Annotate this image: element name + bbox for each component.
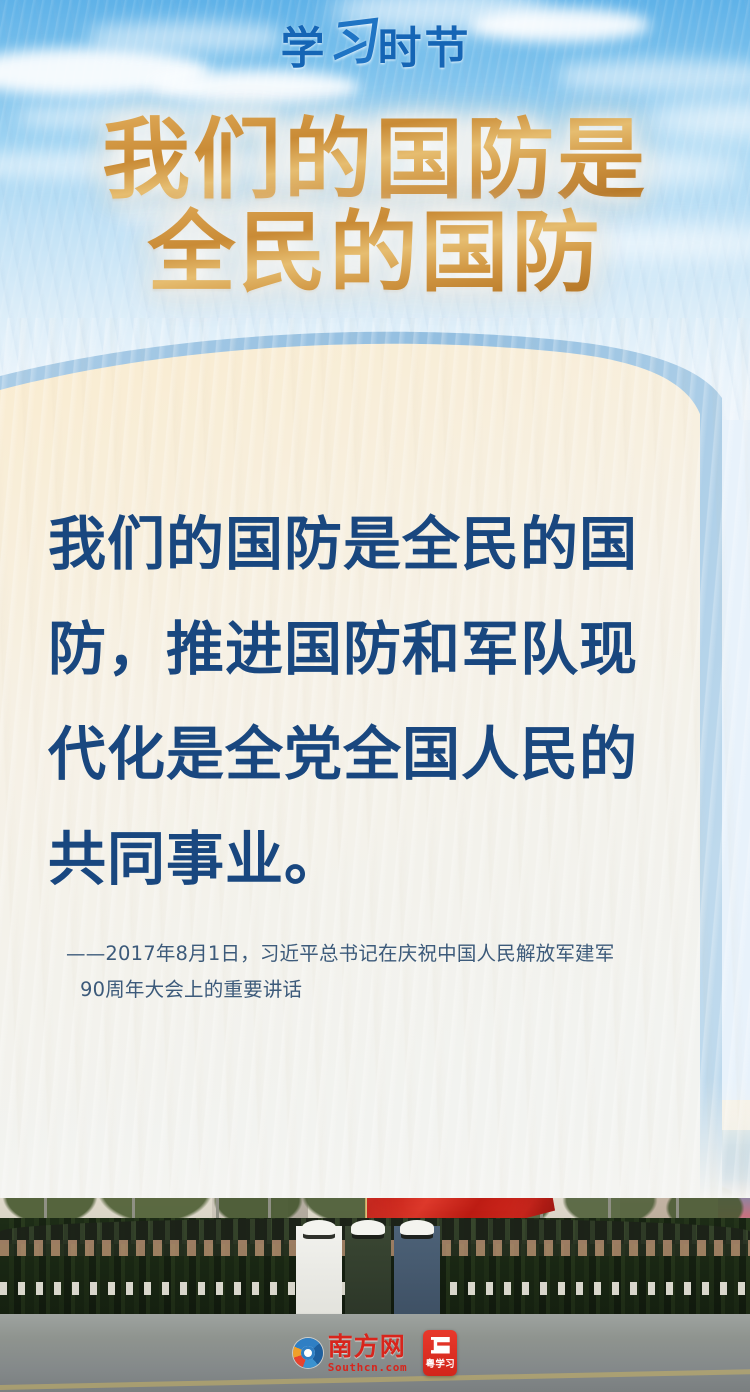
attribution-line: ——2017年8月1日，习近平总书记在庆祝中国人民解放军建军 bbox=[66, 936, 696, 972]
quote-attribution: ——2017年8月1日，习近平总书记在庆祝中国人民解放军建军 90周年大会上的重… bbox=[66, 936, 696, 1008]
quote-line: 我们的国防是全民的国 bbox=[48, 492, 708, 597]
yuexuexi-logo[interactable]: 粤学习 bbox=[423, 1330, 457, 1376]
brand-char-jie: 节 bbox=[425, 27, 470, 71]
cloud bbox=[150, 70, 360, 104]
poster-root: 学 习 时 节 我们的国防是 全民的国防 bbox=[0, 0, 750, 1392]
brand-logo[interactable]: 学 习 时 节 bbox=[0, 24, 750, 74]
southcn-wordmark: 南方网 Southcn.com bbox=[328, 1334, 407, 1373]
quote-text: 我们的国防是全民的国 防，推进国防和军队现 代化是全党全国人民的 共同事业。 bbox=[48, 492, 708, 912]
yuexuexi-mark-icon bbox=[431, 1337, 450, 1354]
southcn-globe-icon bbox=[293, 1338, 323, 1368]
yuexuexi-label: 粤学习 bbox=[426, 1356, 455, 1370]
headline-line-2: 全民的国防 bbox=[0, 203, 750, 302]
officer-cap bbox=[302, 1220, 336, 1235]
quote-line: 代化是全党全国人民的 bbox=[48, 702, 708, 807]
southcn-label-cn: 南方网 bbox=[328, 1334, 407, 1359]
brand-char-shi: 时 bbox=[378, 27, 423, 71]
officer-cap bbox=[351, 1220, 385, 1235]
attribution-line: 90周年大会上的重要讲话 bbox=[66, 972, 696, 1008]
footer-logos: 南方网 Southcn.com 粤学习 bbox=[0, 1330, 750, 1376]
southcn-logo[interactable]: 南方网 Southcn.com bbox=[293, 1334, 407, 1373]
brand-char-xue: 学 bbox=[281, 27, 326, 71]
brand-char-xi-calligraphy: 习 bbox=[323, 15, 380, 71]
officer-cap bbox=[400, 1220, 434, 1235]
page-title: 我们的国防是 全民的国防 bbox=[0, 110, 750, 301]
quote-line: 防，推进国防和军队现 bbox=[48, 597, 708, 702]
headline-line-1: 我们的国防是 bbox=[0, 110, 750, 209]
quote-line: 共同事业。 bbox=[48, 807, 708, 912]
southcn-label-en: Southcn.com bbox=[328, 1362, 407, 1373]
